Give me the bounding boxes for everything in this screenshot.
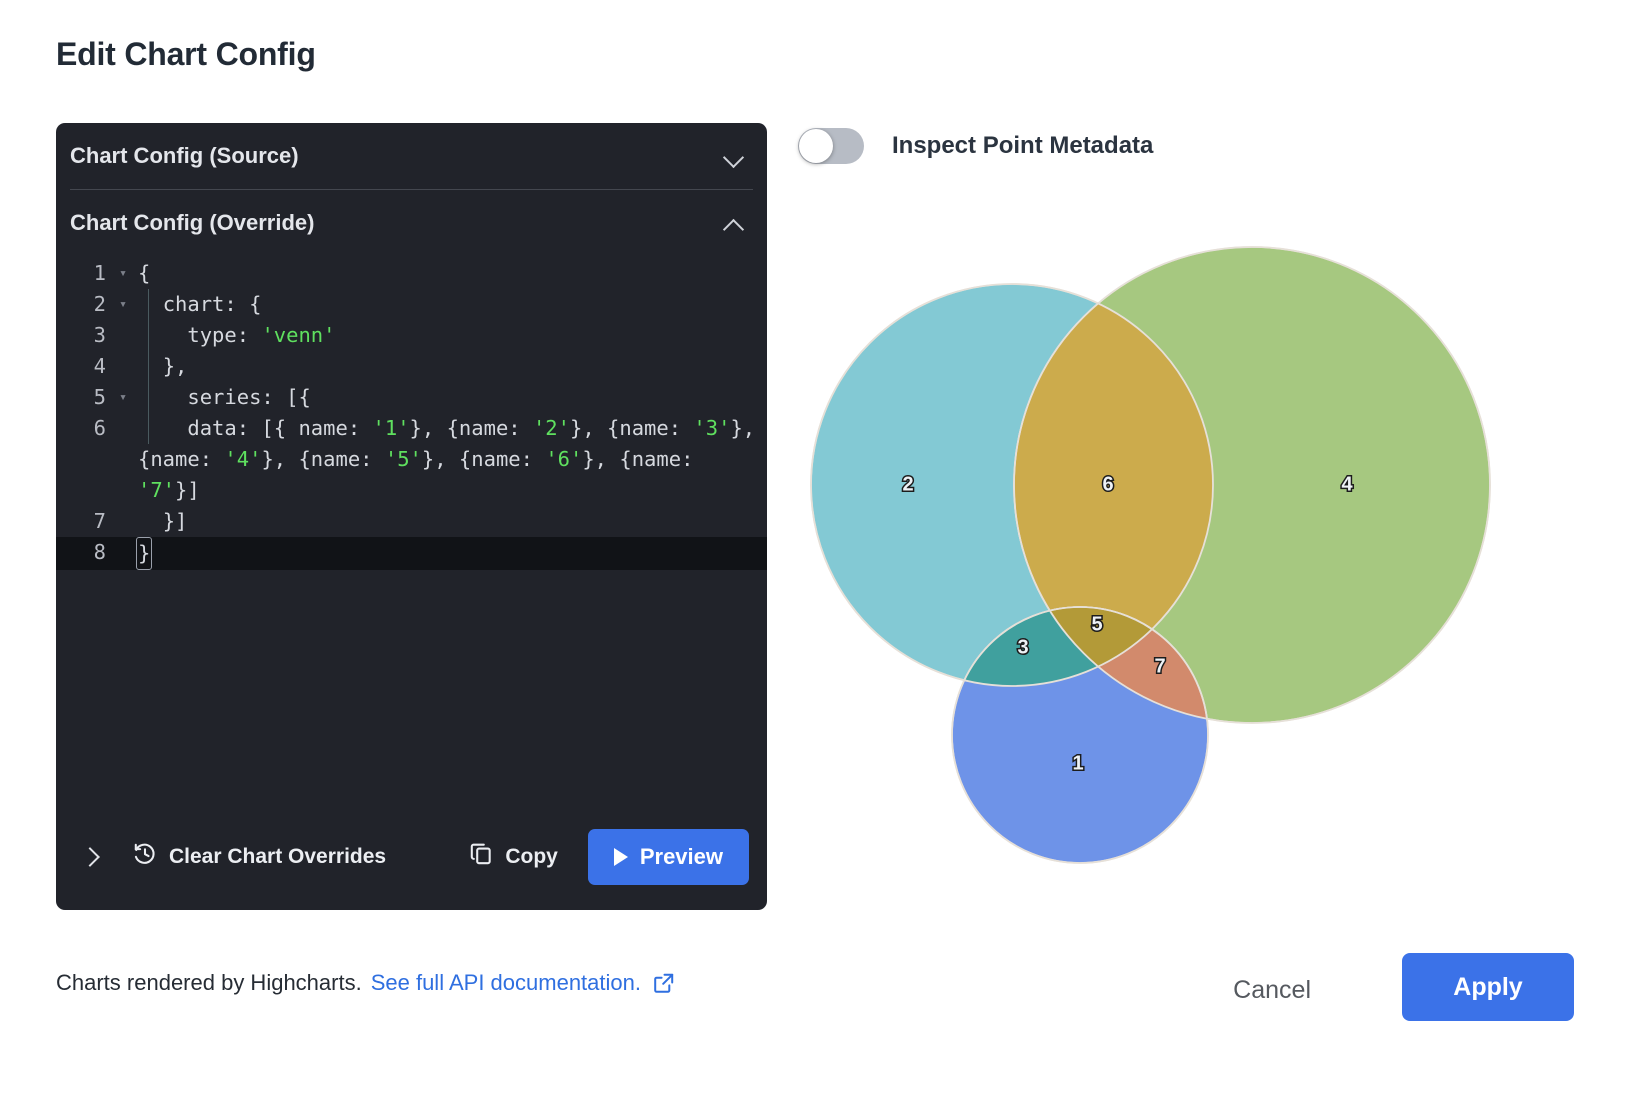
line-number: 2 (56, 289, 112, 320)
code-line-text: }] (134, 506, 767, 537)
inspect-point-metadata-row: Inspect Point Metadata (798, 128, 1153, 164)
apply-button[interactable]: Apply (1402, 953, 1574, 1021)
venn-label-3: 3 (1017, 636, 1028, 658)
page-title: Edit Chart Config (56, 36, 316, 73)
code-line-text: type: 'venn' (134, 320, 767, 351)
line-number: 1 (56, 258, 112, 289)
chart-config-override-label: Chart Config (Override) (70, 210, 723, 236)
code-line-text: } (134, 537, 767, 570)
code-line-text: series: [{ (134, 382, 767, 413)
venn-label-1: 1 (1072, 752, 1083, 774)
inspect-point-metadata-label: Inspect Point Metadata (892, 132, 1153, 160)
venn-label-7: 7 (1154, 655, 1165, 677)
code-editor[interactable]: 1▾{2▾ chart: {3 type: 'venn'4 },5▾ serie… (56, 256, 767, 829)
copy-button[interactable]: Copy (462, 833, 564, 881)
inspect-point-metadata-toggle[interactable] (798, 128, 864, 164)
line-number: 5 (56, 382, 112, 413)
cancel-button[interactable]: Cancel (1217, 966, 1327, 1015)
footer-text: Charts rendered by Highcharts. (56, 970, 362, 996)
line-number: 6 (56, 413, 112, 444)
edit-chart-config-dialog: Edit Chart Config Chart Config (Source) … (0, 0, 1630, 1100)
venn-chart-svg: 2416375 (790, 215, 1530, 895)
editor-toolbar: Clear Chart Overrides Copy Preview (56, 803, 767, 910)
indent-guide (148, 289, 149, 444)
history-revert-icon (132, 841, 158, 873)
venn-label-2: 2 (902, 473, 913, 495)
code-line-text: data: [{ name: '1'}, {name: '2'}, {name:… (134, 413, 767, 506)
toggle-knob (799, 129, 833, 163)
code-line-text: chart: { (134, 289, 767, 320)
copy-icon (468, 841, 494, 873)
line-number: 8 (56, 537, 112, 568)
code-line-text: { (134, 258, 767, 289)
venn-label-5: 5 (1091, 613, 1102, 635)
venn-label-6: 6 (1102, 473, 1113, 495)
chevron-right-icon[interactable] (74, 841, 106, 873)
fold-toggle-icon[interactable]: ▾ (112, 289, 134, 320)
venn-label-4: 4 (1341, 473, 1353, 495)
chart-config-source-label: Chart Config (Source) (70, 143, 723, 169)
clear-chart-overrides-label: Clear Chart Overrides (169, 845, 386, 869)
copy-label: Copy (505, 845, 558, 869)
code-line[interactable]: 7 }] (56, 506, 767, 537)
code-line[interactable]: 3 type: 'venn' (56, 320, 767, 351)
code-line[interactable]: 4 }, (56, 351, 767, 382)
line-number: 3 (56, 320, 112, 351)
code-line-text: }, (134, 351, 767, 382)
fold-toggle-icon[interactable]: ▾ (112, 382, 134, 413)
preview-label: Preview (640, 844, 723, 870)
play-icon (614, 848, 628, 866)
code-line[interactable]: 5▾ series: [{ (56, 382, 767, 413)
chart-config-source-header[interactable]: Chart Config (Source) (56, 123, 767, 189)
venn-chart[interactable]: 2416375 (790, 215, 1530, 895)
api-documentation-link[interactable]: See full API documentation. (371, 970, 641, 996)
code-line[interactable]: 6 data: [{ name: '1'}, {name: '2'}, {nam… (56, 413, 767, 506)
chevron-down-icon[interactable] (723, 145, 745, 167)
code-line[interactable]: 2▾ chart: { (56, 289, 767, 320)
code-line[interactable]: 1▾{ (56, 258, 767, 289)
chevron-up-icon[interactable] (723, 212, 745, 234)
clear-chart-overrides-button[interactable]: Clear Chart Overrides (126, 833, 392, 881)
external-link-icon[interactable] (652, 971, 676, 995)
preview-button[interactable]: Preview (588, 829, 749, 885)
line-number: 4 (56, 351, 112, 382)
chart-config-editor-panel: Chart Config (Source) Chart Config (Over… (56, 123, 767, 910)
line-number: 7 (56, 506, 112, 537)
chart-config-override-header[interactable]: Chart Config (Override) (56, 190, 767, 256)
footer-note: Charts rendered by Highcharts. See full … (56, 970, 676, 996)
fold-toggle-icon[interactable]: ▾ (112, 258, 134, 289)
code-line[interactable]: 8} (56, 537, 767, 570)
